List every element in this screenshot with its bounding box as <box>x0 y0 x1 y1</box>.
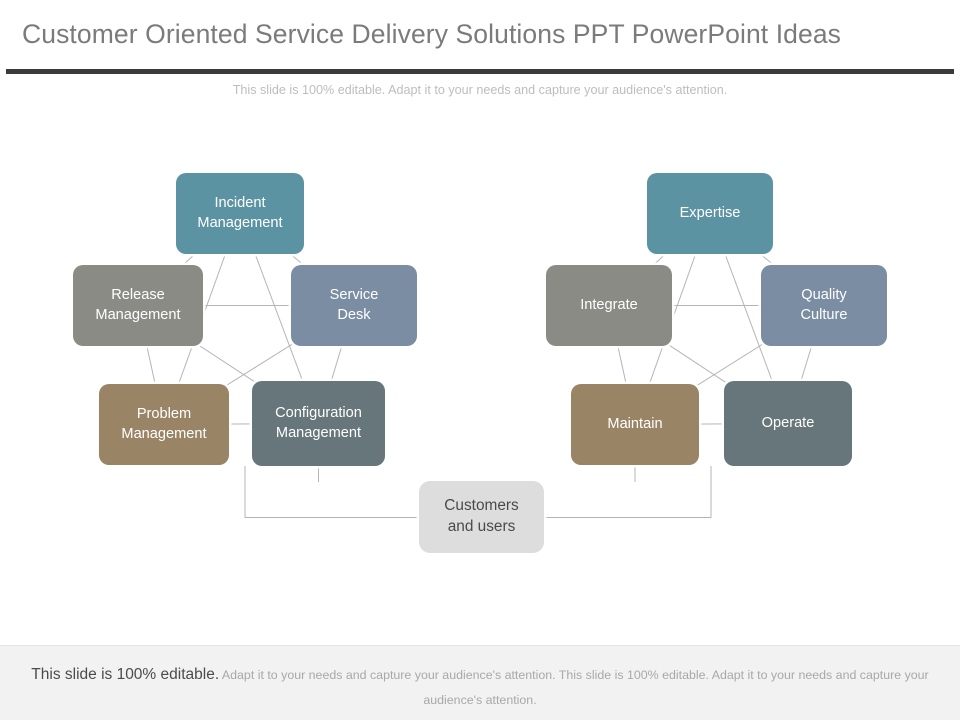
node-label: Incident Management <box>197 194 282 233</box>
node-label: Service Desk <box>330 286 379 325</box>
node-label: Configuration Management <box>275 404 362 443</box>
node-label: Expertise <box>680 204 741 224</box>
footer-strong-text: This slide is 100% editable. <box>31 666 219 683</box>
footer-rest-text: Adapt it to your needs and capture your … <box>219 668 929 707</box>
node-service-desk[interactable]: Service Desk <box>291 265 417 346</box>
node-operate[interactable]: Operate <box>724 381 852 466</box>
node-maintain[interactable]: Maintain <box>571 384 699 465</box>
node-problem-management[interactable]: Problem Management <box>99 384 229 465</box>
node-integrate[interactable]: Integrate <box>546 265 672 346</box>
node-release-management[interactable]: Release Management <box>73 265 203 346</box>
node-label: Operate <box>762 414 815 434</box>
slide-footer: This slide is 100% editable. Adapt it to… <box>0 645 960 720</box>
footer-text: This slide is 100% editable. Adapt it to… <box>20 663 940 713</box>
node-label: Problem Management <box>121 405 206 444</box>
node-label: Customers and users <box>444 496 518 537</box>
slide-header: Customer Oriented Service Delivery Solut… <box>0 0 960 76</box>
node-label: Release Management <box>95 286 180 325</box>
node-customers-and-users[interactable]: Customers and users <box>419 481 544 553</box>
node-incident-management[interactable]: Incident Management <box>176 173 304 254</box>
diagram-area: Incident Management Release Management S… <box>0 110 960 615</box>
node-expertise[interactable]: Expertise <box>647 173 773 254</box>
node-configuration-management[interactable]: Configuration Management <box>252 381 385 466</box>
slide-subtitle: This slide is 100% editable. Adapt it to… <box>0 83 960 97</box>
node-quality-culture[interactable]: Quality Culture <box>761 265 887 346</box>
node-label: Quality Culture <box>800 286 847 325</box>
node-label: Maintain <box>607 415 662 435</box>
node-label: Integrate <box>580 296 638 316</box>
title-divider <box>6 69 954 74</box>
page-title: Customer Oriented Service Delivery Solut… <box>22 19 841 50</box>
